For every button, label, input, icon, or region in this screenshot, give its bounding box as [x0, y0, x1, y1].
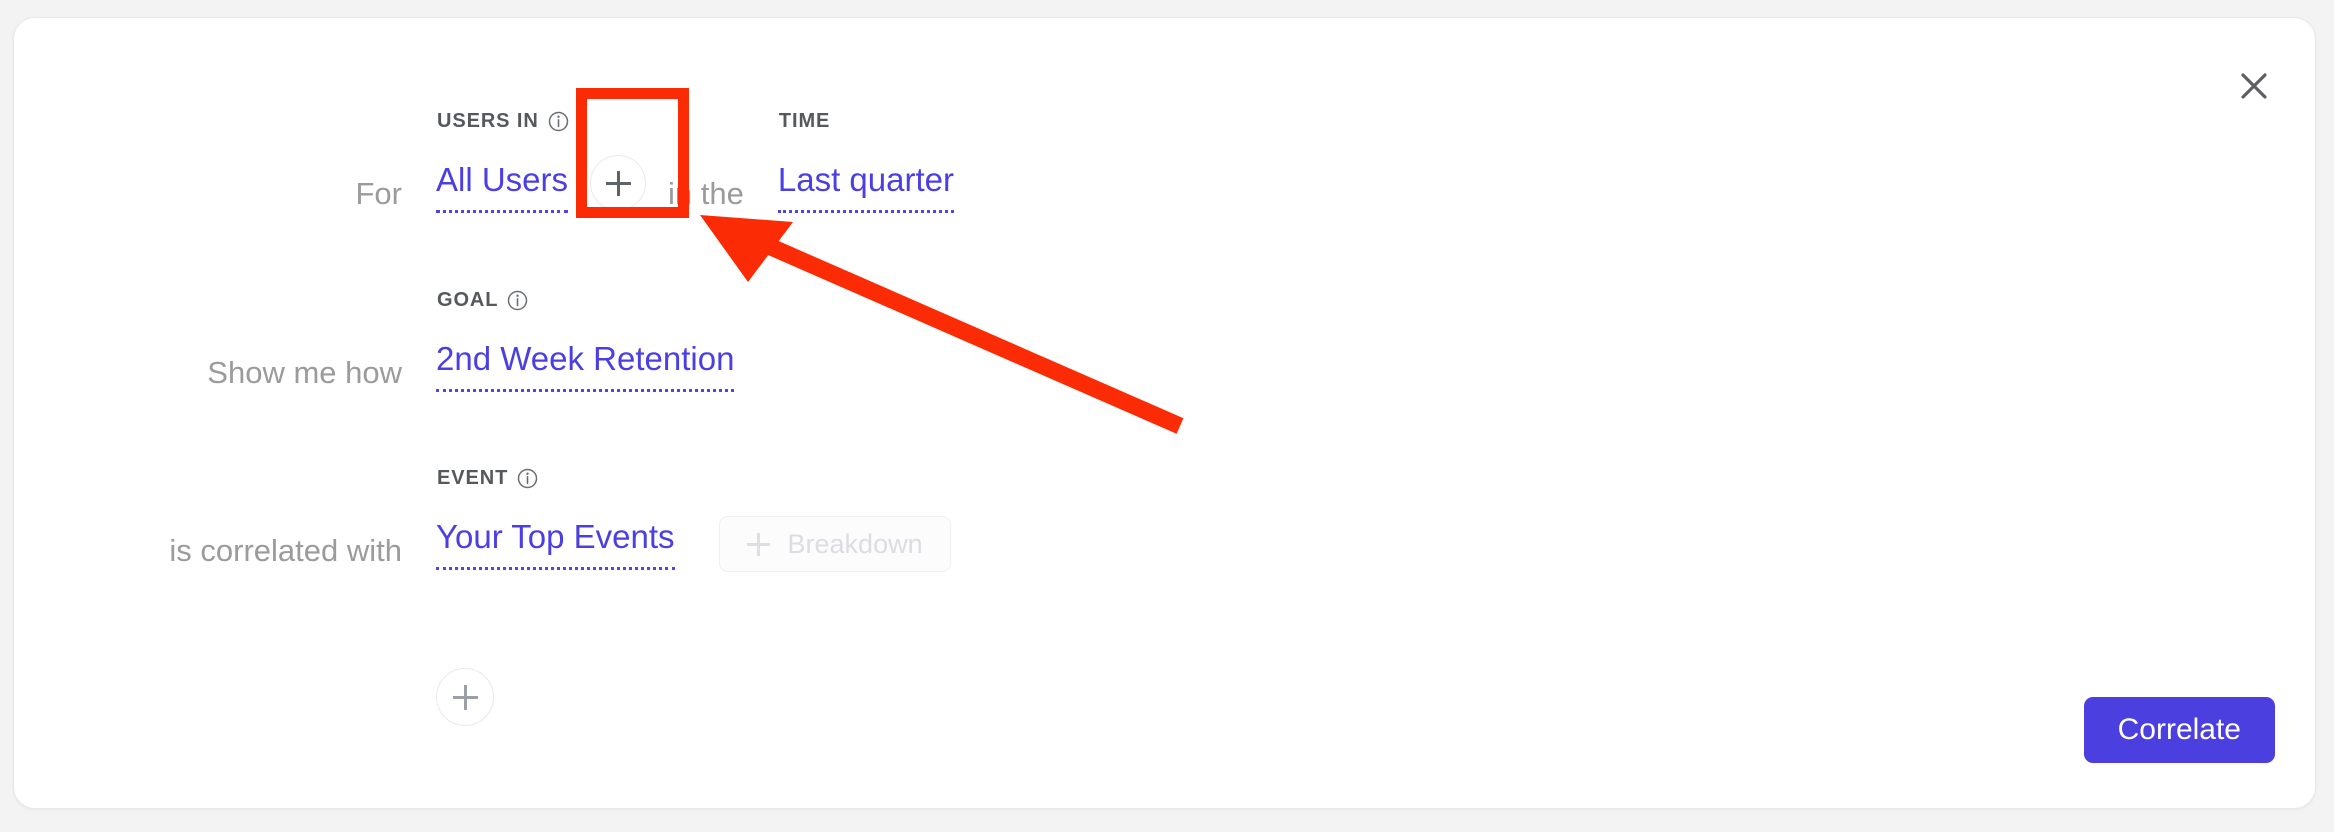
event-label: EVENT — [437, 467, 508, 490]
query-row-event: is correlated with EVENT Your Top Event — [14, 500, 951, 576]
plus-icon — [606, 171, 631, 196]
time-value[interactable]: Last quarter — [778, 160, 954, 213]
row-connector-in-the: in the — [668, 175, 744, 219]
users-in-header: USERS IN — [437, 110, 569, 133]
event-header: EVENT — [437, 467, 538, 490]
correlation-query-card: For USERS IN All Users — [13, 17, 2316, 809]
close-button[interactable] — [2228, 60, 2280, 112]
add-cohort-wrap — [590, 155, 646, 219]
event-token: EVENT Your Top Events — [436, 517, 675, 576]
query-row-goal: Show me how GOAL 2nd Week Retention — [14, 322, 734, 398]
row-prefix-show-me-how: Show me how — [14, 354, 402, 398]
row-prefix-for: For — [14, 175, 402, 219]
plus-icon — [453, 685, 478, 710]
users-in-token: USERS IN All Users — [436, 160, 568, 219]
goal-header: GOAL — [437, 289, 528, 312]
goal-token: GOAL 2nd Week Retention — [436, 339, 734, 398]
breakdown-label: Breakdown — [788, 529, 923, 560]
info-icon[interactable] — [548, 111, 569, 132]
breakdown-button[interactable]: Breakdown — [719, 516, 951, 572]
time-token: TIME Last quarter — [778, 160, 954, 219]
time-label: TIME — [779, 110, 830, 133]
add-row-wrap — [436, 668, 494, 726]
screen-root: For USERS IN All Users — [0, 0, 2334, 832]
goal-value[interactable]: 2nd Week Retention — [436, 339, 734, 392]
time-header: TIME — [779, 110, 830, 133]
users-in-value[interactable]: All Users — [436, 160, 568, 213]
users-in-label: USERS IN — [437, 110, 539, 133]
add-cohort-button[interactable] — [590, 155, 646, 211]
event-value[interactable]: Your Top Events — [436, 517, 675, 570]
close-icon — [2237, 69, 2271, 103]
query-row-users: For USERS IN All Users — [14, 143, 954, 219]
row-prefix-is-correlated-with: is correlated with — [14, 532, 402, 576]
goal-label: GOAL — [437, 289, 498, 312]
correlate-button[interactable]: Correlate — [2084, 697, 2275, 763]
plus-icon — [747, 533, 770, 556]
info-icon[interactable] — [507, 290, 528, 311]
add-row-button[interactable] — [436, 668, 494, 726]
info-icon[interactable] — [517, 468, 538, 489]
